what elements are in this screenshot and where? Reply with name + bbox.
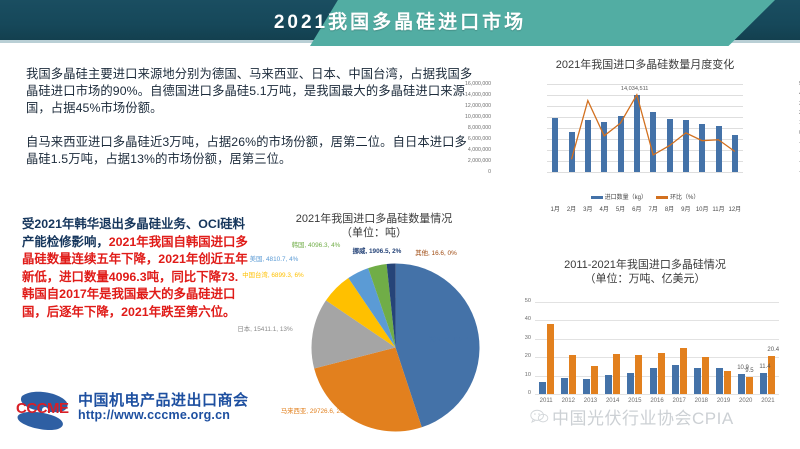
pie-label-norway: 挪威, 1906.5, 2% [348, 248, 406, 256]
bar-2020-1 [746, 377, 753, 394]
cccme-logo: CCCME 中国机电产品进出口商会 http://www.cccme.org.c… [16, 386, 256, 434]
page-title: 2021我国多晶硅进口市场 [0, 0, 800, 40]
gridline [547, 172, 743, 173]
yearly-chart-plot: 0102030405020112012201320142015201620172… [535, 302, 779, 394]
slide-root: 2021我国多晶硅进口市场 我国多晶硅主要进口来源地分别为德国、马来西亚、日本、… [0, 0, 800, 449]
logo-acronym: CCCME [16, 400, 69, 417]
bar-2011-0 [539, 382, 546, 394]
mom-line [547, 84, 743, 172]
pie-label-other: 其他, 16.6, 0% [408, 250, 464, 258]
y-axis-tick: 4,000,000 [445, 147, 491, 153]
pie-chart-panel: 2021年我国进口多晶硅数量情况 （单位：吨） 德国, 51316, 45% 马… [250, 212, 498, 440]
bar-2018-0 [694, 368, 701, 394]
y-axis-tick: 16,000,000 [445, 81, 491, 87]
y-axis-tick: 10,000,000 [445, 114, 491, 120]
data-label-2021-1: 20.4 [767, 347, 779, 353]
y-axis-tick: 40 [509, 316, 531, 322]
data-label-2021-0: 11.4 [759, 364, 770, 370]
yearly-title-unit: （单位：万吨、亿美元） [495, 272, 795, 286]
gridline [535, 320, 779, 321]
data-label-peak: 14,034,511 [621, 86, 649, 92]
bar-2014-1 [613, 354, 620, 394]
y-axis-tick: 14,000,000 [445, 92, 491, 98]
slide-header: 2021我国多晶硅进口市场 [0, 0, 800, 46]
bar-2015-1 [635, 355, 642, 394]
y-axis-tick: 20 [509, 353, 531, 359]
pie-title-main: 2021年我国进口多晶硅数量情况 [250, 212, 498, 226]
y-axis-tick: 30 [509, 335, 531, 341]
bar-2016-0 [650, 368, 657, 394]
x-axis-tick: 1月 [547, 204, 563, 213]
paragraph-intro: 我国多晶硅主要进口来源地分别为德国、马来西亚、日本、中国台湾，占据我国多晶硅进口… [26, 66, 478, 117]
y-axis-tick: 0 [445, 169, 491, 175]
x-axis-tick: 4月 [596, 204, 612, 213]
y-axis-tick: 0 [509, 390, 531, 396]
paragraph-secondary: 自马来西亚进口多晶硅近3万吨，占据26%的市场份额，居第二位。自日本进口多晶硅1… [26, 134, 478, 168]
x-axis-tick: 11月 [711, 204, 727, 213]
bar-2021-1 [768, 356, 775, 394]
pie-title-unit: （单位：吨） [250, 226, 498, 240]
cpia-watermark: 中国光伏行业协会CPIA [530, 404, 734, 429]
x-axis-tick: 5月 [613, 204, 629, 213]
legend-item-mom: 环比（%） [656, 192, 699, 201]
bar-2014-0 [605, 375, 612, 394]
bar-2017-0 [672, 365, 679, 394]
monthly-chart-panel: 2021年我国进口多晶硅数量月度变化 02,000,0004,000,0006,… [495, 56, 795, 208]
bar-2017-1 [680, 348, 687, 394]
bar-2018-1 [702, 357, 709, 394]
x-axis-tick: 10月 [694, 204, 710, 213]
bar-2011-1 [547, 324, 554, 394]
paragraph-korea: 受2021年韩华退出多晶硅业务、OCI硅料产能检修影响，2021年我国自韩国进口… [22, 216, 250, 322]
logo-name-cn: 中国机电产品进出口商会 [78, 389, 249, 410]
x-axis-tick: 7月 [645, 204, 661, 213]
watermark-text: 中国光伏行业协会CPIA [552, 404, 734, 429]
bar-2016-1 [658, 353, 665, 394]
monthly-chart-plot: 02,000,0004,000,0006,000,0008,000,00010,… [547, 84, 743, 172]
x-axis-tick: 9月 [678, 204, 694, 213]
y-axis-tick: 2,000,000 [445, 158, 491, 164]
data-label-2020-1: 9.5 [745, 368, 753, 374]
bar-2012-0 [561, 378, 568, 394]
x-axis-tick: 2021 [755, 398, 781, 404]
gridline [535, 394, 779, 395]
bar-2021-0 [760, 373, 767, 394]
y-axis-tick: 12,000,000 [445, 103, 491, 109]
x-axis-tick: 8月 [662, 204, 678, 213]
wechat-icon [530, 409, 549, 424]
x-axis-tick: 2月 [564, 204, 580, 213]
y-axis-tick: 50 [509, 298, 531, 304]
bar-2020-0 [738, 374, 745, 394]
pie-label-germany: 德国, 51316, 45% [428, 336, 498, 344]
gridline [535, 339, 779, 340]
legend-item-volume: 进口数量（kg） [591, 192, 647, 201]
bar-2015-0 [627, 373, 634, 394]
monthly-chart-title: 2021年我国进口多晶硅数量月度变化 [495, 58, 795, 72]
yearly-chart-title: 2011-2021年我国进口多晶硅情况 （单位：万吨、亿美元） [495, 258, 795, 286]
pie-label-taiwan: 中国台湾, 6899.3, 6% [236, 272, 310, 280]
bar-2012-1 [569, 355, 576, 394]
x-axis-tick: 3月 [580, 204, 596, 213]
x-axis-tick: 6月 [629, 204, 645, 213]
monthly-chart-legend: 进口数量（kg） 环比（%） [495, 192, 795, 201]
yearly-title-main: 2011-2021年我国进口多晶硅情况 [495, 258, 795, 272]
bar-2013-1 [591, 366, 598, 394]
bar-2019-1 [724, 371, 731, 394]
pie-chart-title: 2021年我国进口多晶硅数量情况 （单位：吨） [250, 212, 498, 240]
logo-url: http://www.cccme.org.cn [78, 408, 230, 422]
y-axis-tick: 6,000,000 [445, 136, 491, 142]
x-axis-tick: 12月 [727, 204, 743, 213]
gridline [535, 302, 779, 303]
y-axis-tick: 8,000,000 [445, 125, 491, 131]
y-axis-tick: 10 [509, 372, 531, 378]
bar-2019-0 [716, 368, 723, 394]
pie-label-usa: 美国, 4810.7, 4% [236, 256, 312, 264]
pie-label-japan: 日本, 15411.1, 13% [232, 326, 298, 334]
pie-label-korea: 韩国, 4096.3, 4% [278, 242, 354, 250]
bar-2013-0 [583, 379, 590, 394]
pie-label-malaysia: 马来西亚, 29726.6, 26% [272, 408, 358, 416]
